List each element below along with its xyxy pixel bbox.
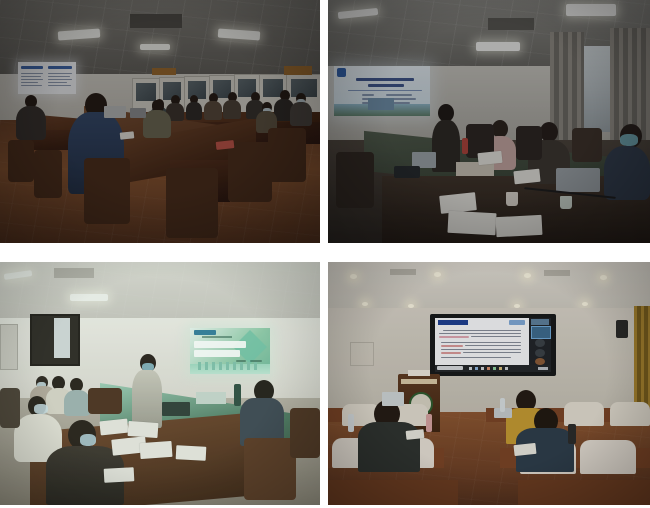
chair bbox=[336, 152, 374, 208]
slide-text-line bbox=[21, 85, 42, 86]
ceiling-vent bbox=[544, 270, 570, 276]
paper-document bbox=[477, 151, 502, 165]
chair bbox=[228, 142, 272, 202]
slide-text-line bbox=[463, 352, 521, 353]
slide-logo bbox=[194, 330, 216, 335]
slide-info-row bbox=[386, 94, 412, 96]
slide-text-line bbox=[471, 336, 521, 337]
paper-document bbox=[447, 211, 496, 235]
water-bottle bbox=[348, 414, 354, 432]
slide-building-graphic bbox=[368, 98, 394, 110]
slide-text-line bbox=[21, 73, 43, 74]
toolbar-icon bbox=[505, 367, 508, 370]
slide-text-highlight bbox=[439, 336, 469, 338]
ceiling-vent bbox=[390, 269, 416, 275]
equipment-box bbox=[196, 392, 226, 404]
telephone bbox=[394, 166, 420, 178]
video-thumbnail bbox=[535, 358, 545, 365]
thermos bbox=[234, 384, 241, 406]
paper-cup bbox=[506, 192, 518, 206]
wall-speaker bbox=[616, 320, 628, 338]
slide-skyline-buildings bbox=[198, 362, 260, 370]
chair bbox=[610, 402, 650, 426]
toolbar-clock bbox=[538, 367, 548, 370]
laptop bbox=[382, 392, 404, 406]
chair bbox=[244, 438, 296, 500]
slide-text-line bbox=[48, 76, 70, 77]
window bbox=[584, 46, 610, 132]
slide-text-line bbox=[439, 333, 521, 334]
paper-document bbox=[139, 441, 172, 459]
ceiling-vent bbox=[130, 14, 182, 28]
slide-text-line bbox=[48, 73, 72, 74]
projection-screen bbox=[190, 328, 270, 374]
chair bbox=[88, 388, 122, 414]
paper-document bbox=[120, 131, 135, 139]
downlight bbox=[350, 274, 357, 279]
ceiling-tiles bbox=[0, 262, 320, 322]
water-bottle bbox=[500, 398, 505, 412]
ceiling-light bbox=[70, 294, 108, 301]
paper-cup bbox=[560, 196, 572, 209]
water-bottle bbox=[462, 138, 468, 154]
laptop bbox=[130, 108, 146, 118]
wall-plaque bbox=[152, 68, 176, 75]
chair bbox=[564, 402, 604, 426]
presenter bbox=[132, 370, 162, 428]
slide-text-line bbox=[443, 330, 521, 331]
attendee bbox=[64, 390, 90, 416]
slide-title-line bbox=[356, 78, 414, 81]
chair bbox=[8, 140, 34, 182]
notebook bbox=[406, 429, 425, 440]
seminar-presentation-scene bbox=[328, 0, 650, 243]
display-screen bbox=[435, 318, 551, 366]
chair bbox=[0, 388, 20, 428]
paper-document bbox=[496, 215, 543, 237]
chair bbox=[84, 158, 130, 224]
ceiling-vent bbox=[488, 18, 534, 30]
ceiling-light bbox=[566, 4, 616, 16]
downlight bbox=[582, 302, 588, 306]
ceiling bbox=[328, 262, 650, 312]
slide-header-bar bbox=[48, 66, 72, 69]
face-mask bbox=[34, 404, 48, 414]
desk-row-foreground-right bbox=[518, 480, 650, 505]
notebook bbox=[513, 443, 536, 456]
podium-paper bbox=[408, 370, 430, 376]
chair bbox=[290, 408, 320, 458]
paper-document bbox=[99, 419, 128, 436]
slide-banner bbox=[438, 320, 468, 325]
ceiling-light bbox=[140, 44, 170, 50]
slide-text-line bbox=[441, 342, 521, 343]
photo-top-left bbox=[0, 0, 320, 243]
ceiling-light bbox=[476, 42, 520, 51]
projection-screen bbox=[18, 62, 76, 94]
defense-presentation-scene bbox=[0, 262, 320, 505]
attendee bbox=[186, 102, 202, 120]
slide-text-line bbox=[21, 76, 41, 77]
attendee bbox=[604, 146, 650, 200]
lecture-hall-videoconference-scene bbox=[328, 262, 650, 505]
desk-row-foreground-left bbox=[328, 480, 458, 505]
slide-text-highlight bbox=[441, 345, 463, 347]
chair bbox=[516, 126, 542, 160]
slide-logo bbox=[337, 68, 346, 77]
thermos bbox=[568, 424, 576, 444]
chair bbox=[268, 128, 306, 182]
chair bbox=[580, 440, 636, 474]
video-conference-strip bbox=[529, 318, 551, 366]
face-mask bbox=[620, 134, 638, 146]
face-mask bbox=[80, 434, 96, 446]
downlight bbox=[362, 302, 368, 306]
wall-cabinet bbox=[0, 324, 18, 370]
attendee bbox=[223, 100, 241, 119]
slide-text-line bbox=[21, 82, 38, 83]
attendee bbox=[143, 110, 171, 138]
water-bottle bbox=[426, 414, 432, 432]
laptop bbox=[162, 402, 190, 416]
slide-logo bbox=[509, 320, 525, 325]
video-thumbnail-active bbox=[531, 326, 551, 339]
slide-subtitle bbox=[202, 336, 232, 338]
attendee bbox=[204, 101, 222, 120]
conference-room-scene bbox=[0, 0, 320, 243]
toolbar-search-field bbox=[437, 366, 463, 370]
cabinet-glass bbox=[136, 83, 156, 101]
slide-rule bbox=[348, 90, 422, 91]
whiteboard-hook bbox=[350, 342, 374, 366]
toolbar-icon bbox=[469, 367, 472, 370]
slide-text-line bbox=[465, 345, 521, 346]
slide-info-row bbox=[362, 94, 374, 96]
slide-text-line bbox=[21, 79, 43, 80]
photo-collage bbox=[0, 0, 650, 508]
laptop bbox=[556, 168, 600, 192]
slide-text-line bbox=[48, 85, 71, 86]
downlight bbox=[600, 275, 607, 280]
projection-screen bbox=[334, 66, 430, 116]
chair bbox=[166, 168, 218, 238]
attendee bbox=[290, 102, 312, 126]
display-toolbar bbox=[435, 365, 551, 372]
laptop bbox=[104, 106, 126, 118]
slide-title-block bbox=[194, 350, 240, 357]
chair bbox=[34, 150, 62, 198]
attendee bbox=[16, 106, 46, 140]
slide-title-block bbox=[194, 341, 246, 348]
downlight bbox=[524, 273, 531, 278]
paper-document bbox=[513, 169, 540, 185]
notebook bbox=[104, 467, 135, 483]
slide-text-line bbox=[48, 79, 72, 80]
downlight bbox=[434, 272, 441, 277]
attendee-head bbox=[540, 122, 558, 142]
slide-title-line bbox=[368, 84, 404, 87]
paper-document bbox=[176, 445, 207, 461]
display-bezel bbox=[430, 314, 556, 376]
slide-header-bar bbox=[21, 66, 43, 69]
chair bbox=[572, 128, 602, 162]
slide-text-line bbox=[441, 349, 521, 350]
photo-bottom-left bbox=[0, 262, 320, 505]
toolbar-icon bbox=[481, 367, 484, 370]
slide-text-highlight bbox=[441, 352, 461, 354]
photo-bottom-right bbox=[328, 262, 650, 505]
slide-text-line bbox=[48, 82, 67, 83]
toolbar-icon bbox=[499, 367, 502, 370]
video-thumbnail bbox=[535, 349, 545, 357]
video-thumbnail bbox=[531, 319, 549, 325]
wall-plaque bbox=[284, 66, 312, 75]
toolbar-icon bbox=[493, 367, 496, 370]
interior-window bbox=[54, 318, 70, 358]
photo-top-right bbox=[328, 0, 650, 243]
podium-nameplate bbox=[401, 379, 437, 384]
slide-text-line bbox=[441, 357, 511, 358]
toolbar-icon bbox=[475, 367, 478, 370]
ceiling bbox=[0, 262, 320, 322]
video-thumbnail bbox=[535, 339, 545, 347]
toolbar-icon bbox=[487, 367, 490, 370]
ceiling-vent bbox=[54, 268, 94, 278]
